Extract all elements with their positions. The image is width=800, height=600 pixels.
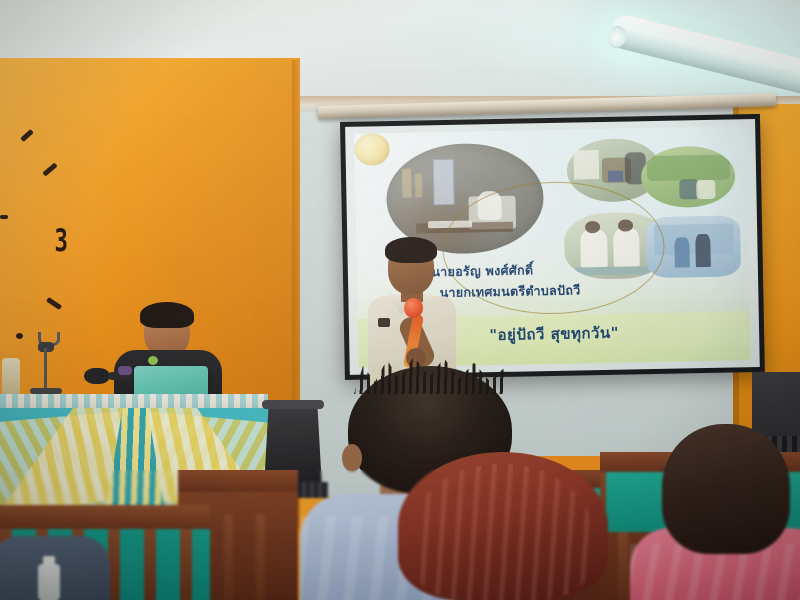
host-hair [140, 302, 194, 328]
slide-photo-detail [574, 150, 599, 179]
chair-slat [144, 529, 156, 600]
clock-mark-11 [42, 162, 57, 176]
slide-photo-detail [646, 154, 729, 181]
microphone-head-icon [404, 298, 423, 318]
chair-slat [256, 514, 265, 600]
clock-mark-5 [16, 333, 23, 339]
table-bottle [2, 358, 20, 398]
chair-slat [224, 514, 233, 600]
chair-slat [180, 529, 192, 600]
audience-woman-hair-sheen [412, 464, 592, 600]
slide-photo-detail [415, 173, 423, 197]
bottle-cap [43, 556, 55, 566]
water-bottle [38, 556, 60, 600]
audience-pink-hair [662, 424, 790, 554]
slide-name-line-2: นายกเทศมนตรีตำบลปัถวี [439, 279, 659, 303]
slide-photo-detail [402, 169, 412, 198]
table-object-green [148, 356, 158, 365]
slide-photo-detail [608, 171, 623, 181]
slide-photo-detail [695, 234, 711, 267]
audience-woman-red-hair [398, 452, 608, 600]
slide-photo-detail [675, 237, 691, 268]
clock-number-3: 3 [54, 223, 67, 259]
table-microphone [84, 368, 110, 384]
audience-woman-pink-shirt [636, 424, 800, 600]
presentation-room-photo: 3 [0, 0, 800, 600]
slide-photo-detail [696, 180, 715, 200]
slide-photo-detail [679, 179, 698, 200]
audience-man-ear [342, 444, 362, 472]
microphone-stand [44, 348, 47, 390]
clock-mark-10 [20, 129, 34, 142]
bin-rim [262, 400, 324, 409]
chair-slat [618, 532, 628, 600]
slide-photo-detail [433, 159, 455, 205]
clock-mark-4 [46, 297, 62, 310]
speaker-shirt-logo [378, 318, 390, 327]
speaker-hair [385, 237, 437, 263]
clock-mark-9 [0, 215, 8, 219]
chair-top-rail [178, 470, 298, 492]
bottle-body [38, 564, 60, 600]
table-object-purple [118, 366, 132, 375]
slide-photo-detail [654, 224, 734, 255]
